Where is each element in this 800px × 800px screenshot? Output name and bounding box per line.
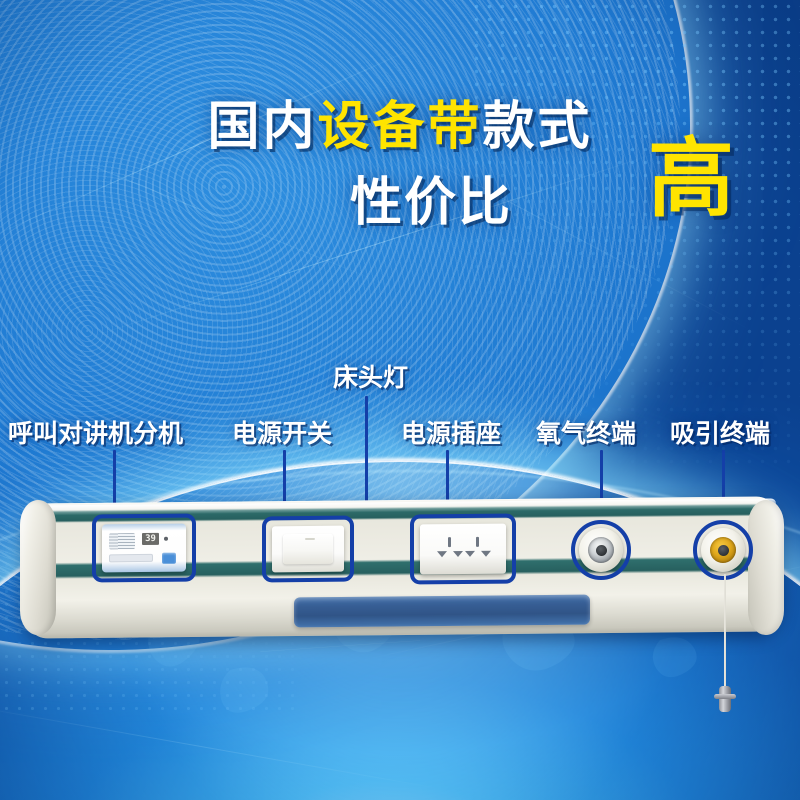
unit-end-cap-left — [20, 500, 56, 635]
highlight-box-power-socket — [410, 513, 516, 584]
highlight-circle-oxygen-terminal — [571, 520, 631, 580]
pull-cord-handle[interactable] — [719, 686, 731, 712]
headline-line-2-highlight: 高 — [648, 136, 734, 222]
highlight-box-power-switch — [262, 516, 354, 583]
unit-end-cap-right — [748, 500, 784, 635]
callout-label-intercom: 呼叫对讲机分机 — [8, 414, 183, 450]
medical-bed-head-unit: 39 — [22, 500, 782, 635]
headline-line1-part1: 国内 — [207, 98, 317, 156]
callout-label-oxygen-terminal: 氧气终端 — [536, 414, 636, 450]
bedside-lamp-strip[interactable] — [294, 595, 590, 628]
pull-cord-line[interactable] — [724, 574, 726, 700]
headline-line-2: 性价比 — [350, 160, 512, 235]
highlight-circle-suction-terminal — [693, 520, 753, 580]
callout-label-suction-terminal: 吸引终端 — [670, 414, 770, 450]
promo-banner: 国内设备带款式 性价比 高 呼叫对讲机分机 电源开关 床头灯 电源插座 氧气终端… — [0, 0, 800, 800]
callout-label-power-switch: 电源开关 — [232, 414, 332, 450]
callout-label-power-socket: 电源插座 — [401, 414, 501, 450]
callout-label-bedside-lamp: 床头灯 — [333, 358, 408, 394]
headline-line1-part2: 款式 — [483, 98, 593, 156]
highlight-box-intercom — [92, 514, 196, 583]
headline-line1-highlight: 设备带 — [317, 98, 482, 156]
